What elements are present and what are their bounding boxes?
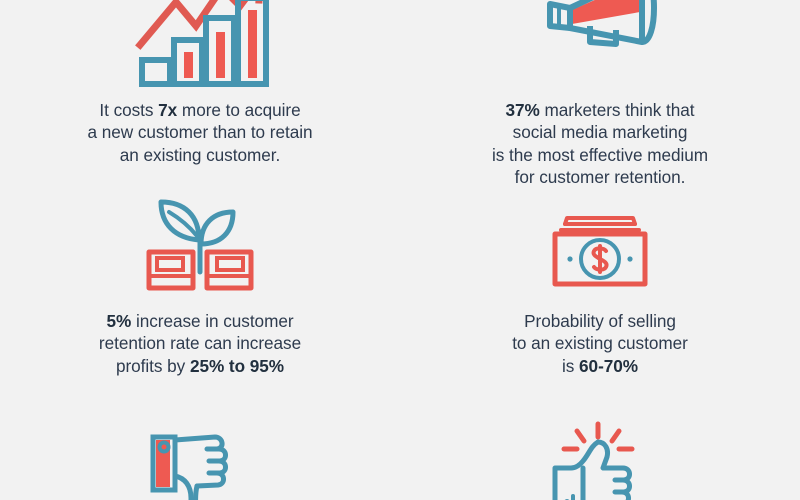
thumbs-down-icon — [145, 420, 255, 500]
stat-card-thumbs-up — [400, 420, 800, 500]
bar-chart-growth-icon — [130, 0, 270, 87]
stat-text-social-media-marketing: 37% marketers think thatsocial media mar… — [492, 99, 708, 189]
infographic-canvas: It costs 7x more to acquirea new custome… — [0, 0, 800, 500]
stat-card-cost-to-acquire: It costs 7x more to acquirea new custome… — [0, 0, 400, 166]
megaphone-icon — [530, 0, 670, 87]
stat-card-social-media-marketing: 37% marketers think thatsocial media mar… — [400, 0, 800, 189]
stat-card-thumbs-down — [0, 420, 400, 500]
stat-text-retention-rate-profits: 5% increase in customerretention rate ca… — [99, 310, 301, 377]
dollar-banknote-icon — [535, 196, 665, 296]
stat-card-probability-of-selling: Probability of sellingto an existing cus… — [400, 196, 800, 377]
thumbs-up-icon — [545, 420, 655, 500]
stat-text-cost-to-acquire: It costs 7x more to acquirea new custome… — [88, 99, 313, 166]
stat-text-probability-of-selling: Probability of sellingto an existing cus… — [512, 310, 688, 377]
stat-card-retention-rate-profits: 5% increase in customerretention rate ca… — [0, 196, 400, 377]
money-plant-growth-icon — [135, 196, 265, 296]
